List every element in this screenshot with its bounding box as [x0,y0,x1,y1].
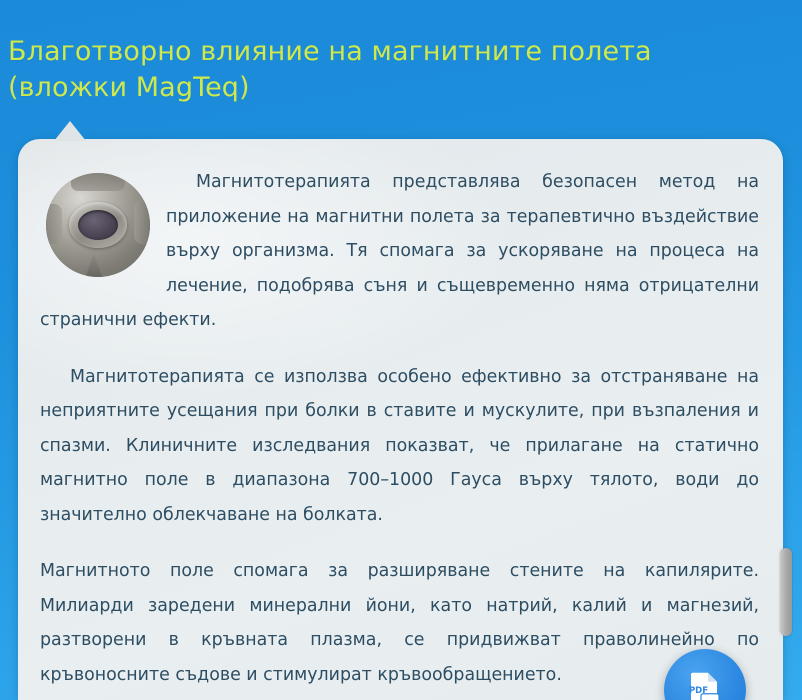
paragraph-2: Магнитотерапията се използва особено ефе… [40,360,759,533]
metal-notch-left [46,204,62,244]
callout-pointer-triangle [54,121,86,141]
magnetic-insert-photo [46,173,150,277]
article-card: Магнитотерапията представлява безопасен … [18,139,783,700]
magnet-core [78,210,118,240]
article-body: Магнитотерапията представлява безопасен … [18,139,783,700]
metal-notch-top [71,173,125,191]
pdf-document-icon: PDF [683,670,727,700]
page-title: Благотворно влияние на магнитните полета… [8,34,772,105]
page-header: Благотворно влияние на магнитните полета… [0,0,802,140]
metal-notch-right [134,200,150,244]
scrollbar-thumb[interactable] [780,548,792,636]
pdf-label: PDF [689,686,708,696]
paragraph-3: Магнитното поле спомага за разширяване с… [40,554,759,692]
